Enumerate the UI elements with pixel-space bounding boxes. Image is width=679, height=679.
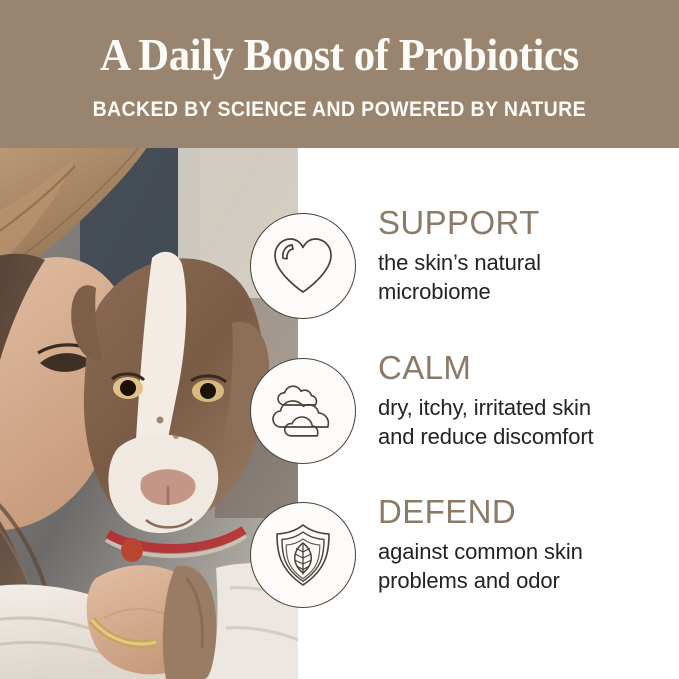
benefit-body-line: problems and odor [378,566,670,595]
clouds-icon-badge [250,358,356,464]
benefit-body-line: dry, itchy, irritated skin [378,393,670,422]
benefit-body: dry, itchy, irritated skin and reduce di… [378,393,670,451]
shield-leaf-icon [271,521,335,589]
benefit-text-support: SUPPORT the skin’s natural microbiome [378,205,670,306]
benefit-body-line: microbiome [378,277,670,306]
benefit-item-calm: CALM dry, itchy, irritated skin and redu… [0,350,679,495]
heart-icon [270,235,336,297]
clouds-icon [268,382,338,440]
benefit-body-line: the skin’s natural [378,248,670,277]
header-banner: A Daily Boost of Probiotics BACKED BY SC… [0,0,679,148]
benefit-item-support: SUPPORT the skin’s natural microbiome [0,205,679,350]
benefit-text-defend: DEFEND against common skin problems and … [378,494,670,595]
page-subtitle: BACKED BY SCIENCE AND POWERED BY NATURE [93,98,586,122]
infographic-root: A Daily Boost of Probiotics BACKED BY SC… [0,0,679,679]
shield-leaf-icon-badge [250,502,356,608]
benefit-body: against common skin problems and odor [378,537,670,595]
benefit-item-defend: DEFEND against common skin problems and … [0,494,679,639]
benefit-heading: CALM [378,350,670,386]
benefit-body: the skin’s natural microbiome [378,248,670,306]
benefit-body-line: against common skin [378,537,670,566]
benefit-body-line: and reduce discomfort [378,422,670,451]
page-title: A Daily Boost of Probiotics [100,30,579,80]
benefit-heading: SUPPORT [378,205,670,241]
heart-icon-badge [250,213,356,319]
benefit-heading: DEFEND [378,494,670,530]
benefits-list: SUPPORT the skin’s natural microbiome [0,148,679,679]
benefit-text-calm: CALM dry, itchy, irritated skin and redu… [378,350,670,451]
